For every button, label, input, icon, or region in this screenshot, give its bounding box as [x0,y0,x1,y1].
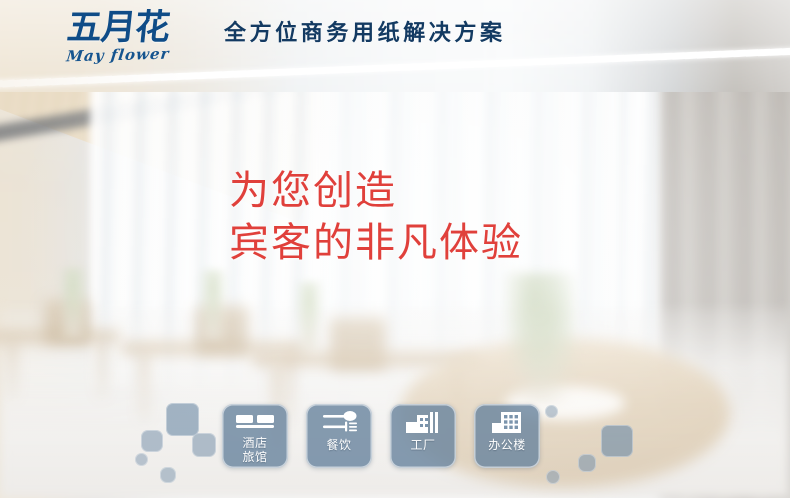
bed-icon [235,411,275,435]
decorative-square [601,425,633,457]
decorative-square [135,453,148,466]
table-leg [98,340,106,398]
category-card-label: 办公楼 [488,438,526,452]
decorative-square [546,470,560,484]
logo-english-name: May flower [47,44,190,66]
category-label-line-2: 旅馆 [242,450,267,464]
header-tagline: 全方位商务用纸解决方案 [224,18,506,48]
category-card-office[interactable]: 办公楼 [474,404,540,468]
hero-headline: 为您创造 宾客的非凡体验 [229,165,523,269]
category-label-line-1: 餐饮 [326,438,351,452]
factory-icon [405,411,441,435]
brand-logo[interactable]: 五月花 May flower [48,8,188,70]
table-centerpiece-plant [505,273,575,403]
logo-chinese-name: 五月花 [46,8,190,48]
category-card-list: 酒店 旅馆 餐饮 [222,404,540,468]
plant-far-mid [196,270,230,340]
category-card-dining[interactable]: 餐饮 [306,404,372,468]
spoon-fork-icon [319,411,359,435]
table-leg [8,340,16,400]
category-card-factory[interactable]: 工厂 [390,404,456,468]
plant-far-left [56,268,90,338]
category-card-label: 酒店 旅馆 [242,436,267,464]
category-card-label: 工厂 [410,438,435,452]
decorative-square [578,454,596,472]
category-label-line-1: 办公楼 [488,438,526,452]
office-building-icon [491,411,523,435]
category-label-line-1: 工厂 [410,438,435,452]
category-label-line-1: 酒店 [242,436,267,450]
category-card-label: 餐饮 [326,438,351,452]
headline-line-2: 宾客的非凡体验 [229,217,523,269]
decorative-square [545,405,558,418]
promo-banner: 五月花 May flower 全方位商务用纸解决方案 为您创造 宾客的非凡体验 [0,0,790,498]
headline-line-1: 为您创造 [229,165,523,217]
plant-far-right [292,282,326,352]
decorative-square [192,433,216,457]
category-card-hotel[interactable]: 酒店 旅馆 [222,404,288,468]
table-leg [140,352,148,422]
decorative-square [166,403,199,436]
decorative-square [160,467,176,483]
decorative-square [141,430,163,452]
